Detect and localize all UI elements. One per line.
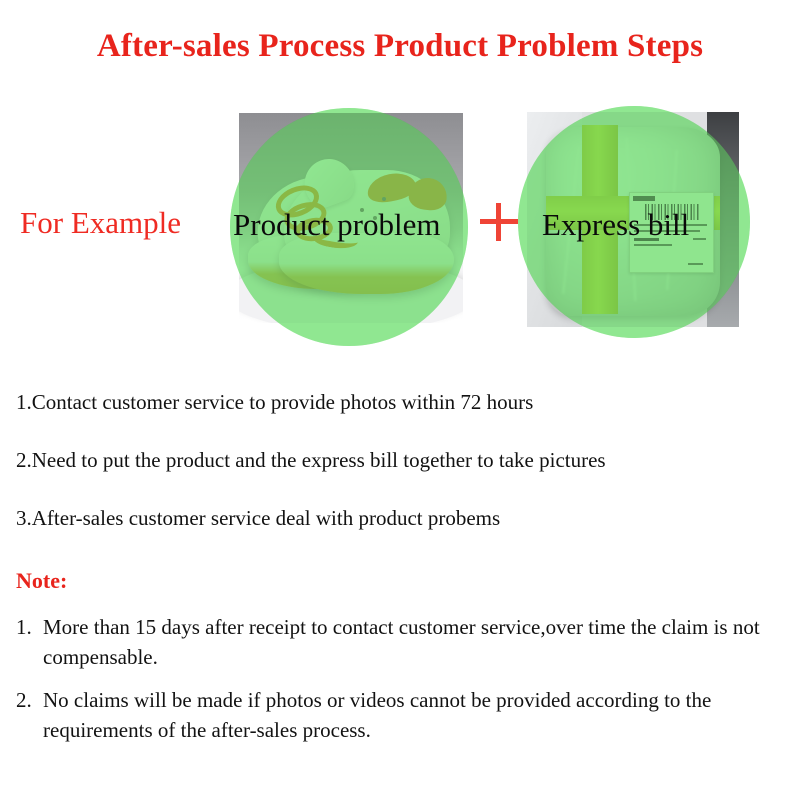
page-title: After-sales Process Product Problem Step…	[0, 28, 800, 65]
label-text-line	[634, 244, 672, 246]
plus-icon	[480, 203, 518, 241]
step-item-3: 3.After-sales customer service deal with…	[16, 508, 786, 529]
left-photo-caption: Product problem	[233, 207, 441, 243]
label-text-line	[688, 263, 703, 265]
note-item-1-text: More than 15 days after receipt to conta…	[43, 615, 760, 669]
page-root: After-sales Process Product Problem Step…	[0, 0, 800, 800]
step-item-1: 1.Contact customer service to provide ph…	[16, 392, 786, 413]
label-header-block	[633, 196, 655, 202]
note-heading: Note:	[16, 568, 67, 594]
note-item-2-text: No claims will be made if photos or vide…	[43, 688, 711, 742]
example-row: For Example	[0, 100, 800, 350]
note-list: 1. More than 15 days after receipt to co…	[16, 612, 792, 758]
label-text-line	[693, 238, 706, 240]
step-item-2: 2.Need to put the product and the expres…	[16, 450, 786, 471]
note-item-2-number: 2.	[16, 685, 32, 715]
note-item-2: 2. No claims will be made if photos or v…	[16, 685, 792, 746]
note-item-1: 1. More than 15 days after receipt to co…	[16, 612, 792, 673]
for-example-label: For Example	[20, 205, 181, 241]
note-item-1-number: 1.	[16, 612, 32, 642]
right-photo-caption: Express bill	[542, 207, 689, 243]
steps-list: 1.Contact customer service to provide ph…	[16, 392, 786, 566]
